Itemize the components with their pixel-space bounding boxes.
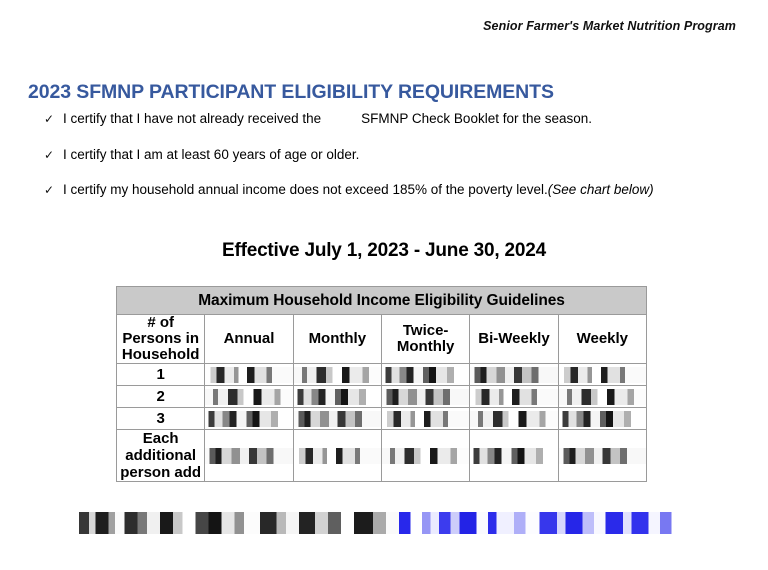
redaction-block <box>470 448 557 464</box>
redaction-block <box>294 389 381 405</box>
row-label: 2 <box>117 386 205 408</box>
checkmark-icon: ✓ <box>44 181 63 199</box>
income-value-annual <box>205 386 293 408</box>
redaction-block <box>205 411 292 427</box>
redaction-block <box>382 367 469 383</box>
effective-period-heading: Effective July 1, 2023 - June 30, 2024 <box>0 240 768 262</box>
see-chart-note: (See chart below) <box>548 182 654 197</box>
column-header-persons: # of Persons in Household <box>117 315 205 364</box>
page-title: 2023 SFMNP PARTICIPANT ELIGIBILITY REQUI… <box>28 81 554 104</box>
column-header-twice-monthly: Twice-Monthly <box>381 315 469 364</box>
certification-text: I certify that I am at least 60 years of… <box>63 147 359 162</box>
income-value-monthly <box>293 408 381 430</box>
income-value-annual <box>205 430 293 482</box>
column-header-annual: Annual <box>205 315 293 364</box>
redaction-block <box>470 367 557 383</box>
income-table-container: Maximum Household Income Eligibility Gui… <box>116 286 647 482</box>
redaction-block <box>382 411 469 427</box>
column-header-weekly: Weekly <box>558 315 646 364</box>
income-value-annual <box>205 364 293 386</box>
income-value-twice-monthly <box>381 386 469 408</box>
redaction-block <box>559 367 646 383</box>
income-value-weekly <box>558 364 646 386</box>
income-value-monthly <box>293 430 381 482</box>
income-value-annual <box>205 408 293 430</box>
income-value-weekly <box>558 408 646 430</box>
column-header-bi-weekly: Bi-Weekly <box>470 315 558 364</box>
redaction-block <box>205 367 292 383</box>
row-label: 1 <box>117 364 205 386</box>
income-value-bi-weekly <box>470 408 558 430</box>
certification-text: I certify my household annual income doe… <box>63 182 548 197</box>
table-row: 1 <box>117 364 647 386</box>
redaction-block <box>559 411 646 427</box>
footer-redacted-line <box>76 512 686 534</box>
income-eligibility-table: Maximum Household Income Eligibility Gui… <box>116 286 647 482</box>
income-value-weekly <box>558 386 646 408</box>
income-value-bi-weekly <box>470 364 558 386</box>
redaction-block <box>382 448 469 464</box>
redaction-block <box>205 448 292 464</box>
redaction-block <box>470 389 557 405</box>
income-value-bi-weekly <box>470 430 558 482</box>
row-label: 3 <box>117 408 205 430</box>
certification-list: ✓I certify that I have not already recei… <box>44 110 744 217</box>
redaction-block <box>559 448 646 464</box>
checkmark-icon: ✓ <box>44 146 63 164</box>
redaction-block <box>205 389 292 405</box>
table-row: Each additional person add <box>117 430 647 482</box>
income-value-monthly <box>293 364 381 386</box>
income-value-twice-monthly <box>381 364 469 386</box>
certification-item: ✓I certify my household annual income do… <box>44 181 744 199</box>
checkmark-icon: ✓ <box>44 110 63 128</box>
income-value-twice-monthly <box>381 408 469 430</box>
column-header-monthly: Monthly <box>293 315 381 364</box>
income-value-monthly <box>293 386 381 408</box>
redaction-block <box>382 389 469 405</box>
footer-redacted-link[interactable] <box>399 512 686 534</box>
redaction-block <box>470 411 557 427</box>
table-row: 2 <box>117 386 647 408</box>
certification-text-continued: SFMNP Check Booklet for the season. <box>361 111 592 126</box>
table-header-row: # of Persons in Household Annual Monthly… <box>117 315 647 364</box>
table-row: 3 <box>117 408 647 430</box>
redaction-block <box>559 389 646 405</box>
certification-item: ✓I certify that I am at least 60 years o… <box>44 146 744 164</box>
redaction-block <box>294 448 381 464</box>
income-value-bi-weekly <box>470 386 558 408</box>
income-value-twice-monthly <box>381 430 469 482</box>
redaction-block <box>294 367 381 383</box>
running-header: Senior Farmer's Market Nutrition Program <box>483 19 736 33</box>
certification-item: ✓I certify that I have not already recei… <box>44 110 744 128</box>
table-caption: Maximum Household Income Eligibility Gui… <box>117 287 647 315</box>
certification-text: I certify that I have not already receiv… <box>63 111 321 126</box>
income-value-weekly <box>558 430 646 482</box>
footer-redacted-text <box>76 512 399 534</box>
table-caption-row: Maximum Household Income Eligibility Gui… <box>117 287 647 315</box>
redaction-block <box>294 411 381 427</box>
row-label: Each additional person add <box>117 430 205 482</box>
